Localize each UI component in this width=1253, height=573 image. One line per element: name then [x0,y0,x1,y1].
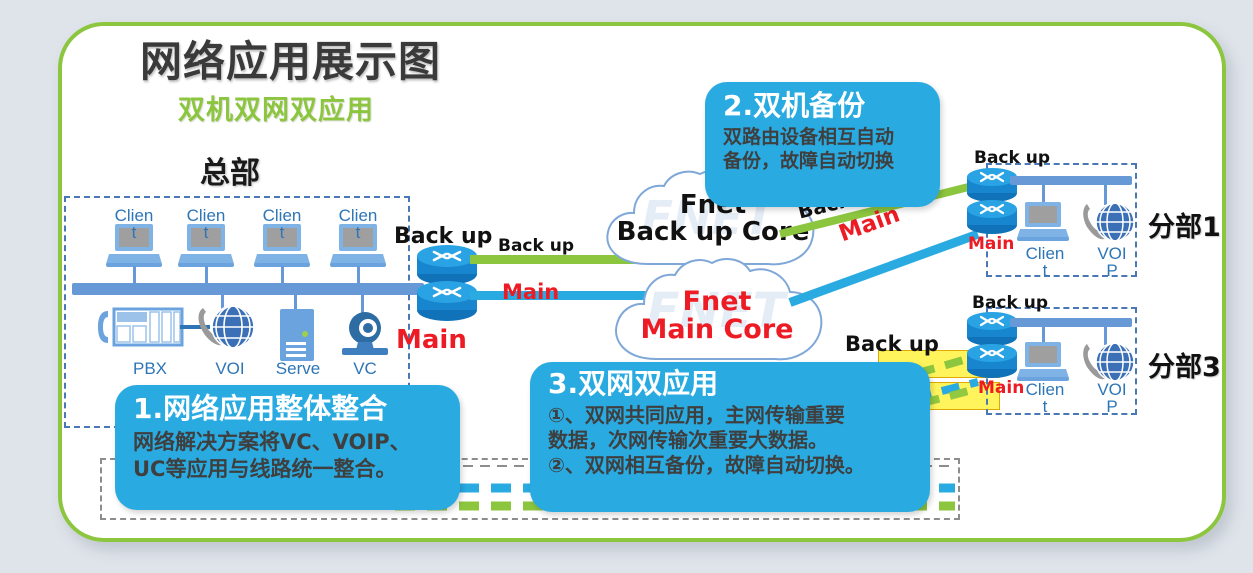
hq-to-backupcore-label: Back up [498,236,574,256]
globe-phone-icon [195,300,257,361]
callout-2-body-line-1: 双路由设备相互自动 [723,126,930,150]
branch1-voip-line2: P [1106,261,1117,280]
branch1-name: 分部1 [1148,205,1221,244]
hq-to-maincore-label: Main [502,280,559,304]
main-core-line1: Fnet [683,286,752,317]
pbx-icon [96,305,188,354]
hq-client-1-label: Clien t [110,207,158,241]
callout-1-body-line-2: UC等应用与线路统一整合。 [133,456,446,482]
vc-label: VC [340,360,390,377]
branch3-client-line2: t [1043,397,1048,416]
voi-label: VOI [200,360,260,377]
server-label: Serve [268,360,328,377]
hq-client-1-line2: t [132,223,137,242]
hq-backbone-bus [72,283,424,295]
callout-3-heading: 3.双网双应用 [548,368,920,399]
hq-client-4-line2: t [356,223,361,242]
branch1-voip-label: VOI P [1090,245,1134,279]
hq-client-2-line2: t [204,223,209,242]
branch3-voip-label: VOI P [1090,381,1134,415]
callout-2[interactable]: 2.双机备份 双路由设备相互自动 备份，故障自动切换 [705,82,940,207]
hq-drop-1 [133,266,136,284]
hq-drop-3 [281,266,284,284]
hq-drop-4 [357,266,360,284]
hq-client-4-label: Clien t [334,207,382,241]
callout-1[interactable]: 1.网络应用整体整合 网络解决方案将VC、VOIP、 UC等应用与线路统一整合。 [115,385,460,510]
branch1-bus [1010,176,1132,185]
pbx-label: PBX [120,360,180,377]
video-camera-icon [338,310,392,361]
branch1-main-label: Main [968,234,1014,254]
page-title: 网络应用展示图 [140,28,441,89]
branch1-client-line2: t [1043,261,1048,280]
callout-3-body-line-3: ②、双网相互备份，故障自动切换。 [548,453,920,478]
callout-1-heading: 1.网络应用整体整合 [133,393,446,424]
branch3-name: 分部3 [1148,345,1221,384]
callout-3[interactable]: 3.双网双应用 ①、双网共同应用，主网传输重要 数据，次网传输次重要大数据。 ②… [530,362,930,512]
core-to-branch3-backup-label: Back up [845,332,939,356]
callout-2-body-line-2: 备份，故障自动切换 [723,150,930,174]
callout-2-heading: 2.双机备份 [723,90,930,121]
branch1-client-icon [1016,200,1070,247]
hq-client-2-label: Clien t [182,207,230,241]
callout-3-body-line-2: 数据，次网传输次重要大数据。 [548,428,920,453]
branch3-backup-label: Back up [972,293,1048,313]
headquarters-title: 总部 [200,148,260,192]
hq-drop-2 [205,266,208,284]
branch1-backup-label: Back up [974,148,1050,168]
page-subtitle: 双机双网双应用 [178,88,374,127]
callout-3-body-line-1: ①、双网共同应用，主网传输重要 [548,403,920,428]
diagram-canvas: 网络应用展示图 双机双网双应用 总部 Clien t Clien t [0,0,1253,573]
branch3-client-label: Clien t [1020,381,1070,415]
branch1-client-label: Clien t [1020,245,1070,279]
branch3-voip-line2: P [1106,397,1117,416]
hq-drop-server [294,295,297,309]
hq-client-3-label: Clien t [258,207,306,241]
callout-1-body-line-1: 网络解决方案将VC、VOIP、 [133,429,446,455]
branch3-bus [1010,318,1132,327]
hq-router-main [416,280,478,327]
hq-client-3-line2: t [280,223,285,242]
hq-main-router-label: Main [396,325,467,355]
